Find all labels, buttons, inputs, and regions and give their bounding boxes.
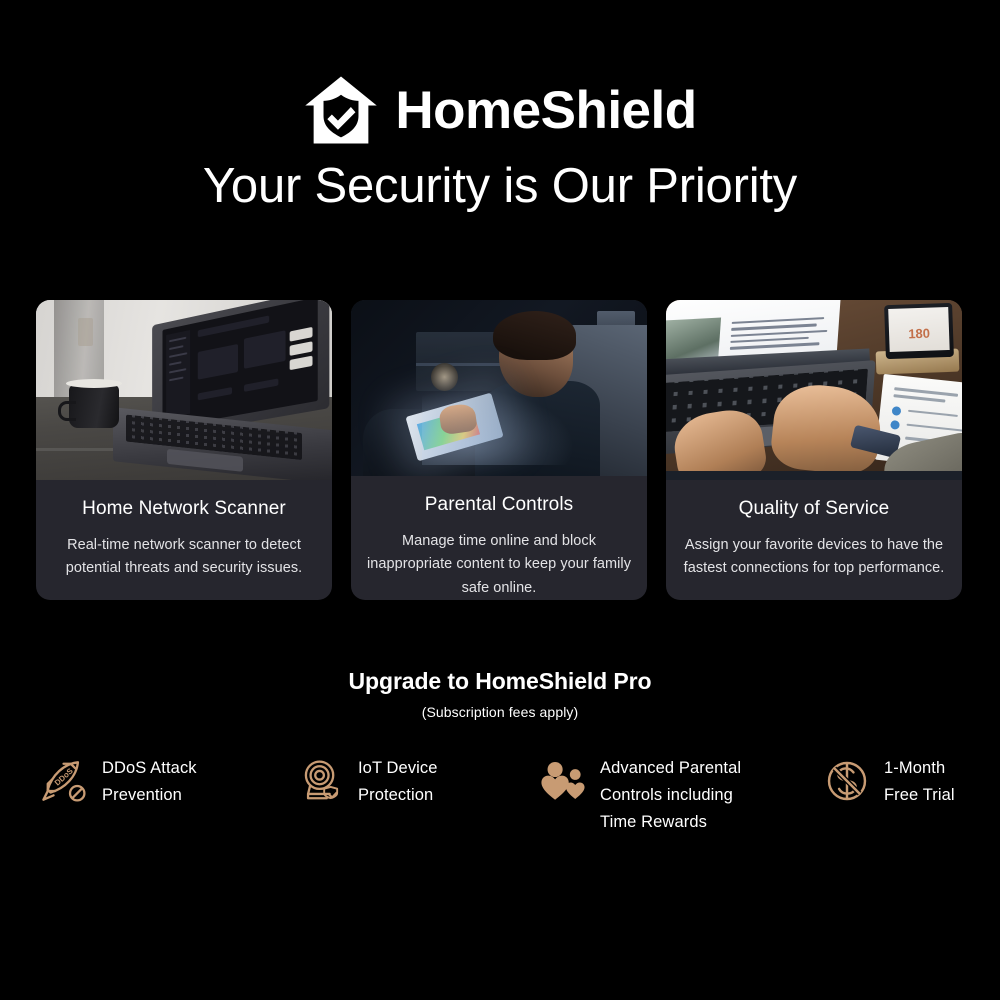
feature-label: DDoS Attack Prevention [102, 755, 197, 809]
brand-lockup: HomeShield [0, 72, 1000, 148]
card-description: Assign your favorite devices to have the… [682, 534, 946, 581]
card-title: Parental Controls [367, 494, 631, 517]
feature-one-month-free-trial[interactable]: 1-Month Free Trial [824, 755, 994, 809]
card-title: Quality of Service [682, 498, 946, 521]
tagline: Your Security is Our Priority [0, 160, 1000, 214]
card-home-network-scanner[interactable]: Home Network Scanner Real-time network s… [36, 300, 332, 600]
pro-subtitle: (Subscription fees apply) [0, 704, 1000, 720]
pro-title: Upgrade to HomeShield Pro [0, 668, 1000, 695]
card-body: Parental Controls Manage time online and… [351, 476, 647, 600]
laptop-on-counter-photo [36, 300, 332, 480]
hands-typing-laptop-photo: 180 [666, 300, 962, 480]
card-parental-controls[interactable]: Parental Controls Manage time online and… [351, 300, 647, 600]
feature-label: 1-Month Free Trial [884, 755, 955, 809]
feature-cards: Home Network Scanner Real-time network s… [36, 300, 964, 600]
pro-upgrade-section: Upgrade to HomeShield Pro (Subscription … [0, 668, 1000, 720]
pro-feature-list: DDoS DDoS Attack Prevention IoT Device [0, 755, 1000, 875]
feature-iot-device-protection[interactable]: IoT Device Protection [298, 755, 518, 809]
card-body: Home Network Scanner Real-time network s… [36, 480, 332, 600]
feature-advanced-parental-controls[interactable]: Advanced Parental Controls including Tim… [540, 755, 810, 837]
dollar-no-fee-icon [824, 758, 870, 804]
phone-display-value: 180 [885, 324, 954, 341]
card-description: Real-time network scanner to detect pote… [52, 534, 316, 581]
brand-name: HomeShield [395, 84, 696, 137]
card-description: Manage time online and block inappropria… [367, 530, 631, 600]
feature-label: Advanced Parental Controls including Tim… [600, 755, 741, 837]
homeshield-promo-page: HomeShield Your Security is Our Priority [0, 0, 1000, 1000]
feature-ddos-attack-prevention[interactable]: DDoS DDoS Attack Prevention [42, 755, 272, 809]
header: HomeShield Your Security is Our Priority [0, 0, 1000, 214]
card-body: Quality of Service Assign your favorite … [666, 480, 962, 600]
house-shield-check-icon [303, 72, 379, 148]
iot-camera-shield-icon [298, 758, 344, 804]
child-with-tablet-photo [351, 300, 647, 476]
ddos-rocket-blocked-icon: DDoS [42, 758, 88, 804]
feature-label: IoT Device Protection [358, 755, 438, 809]
card-quality-of-service[interactable]: 180 Quality of Ser [666, 300, 962, 600]
card-title: Home Network Scanner [52, 498, 316, 521]
parent-child-hearts-icon [540, 758, 586, 804]
